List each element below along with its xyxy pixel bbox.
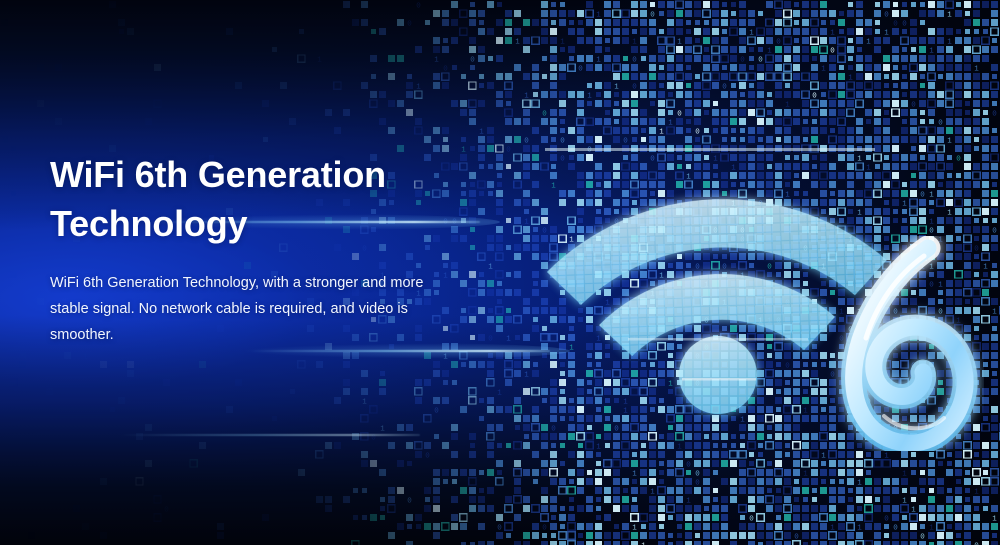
svg-text:0: 0 bbox=[695, 470, 700, 478]
svg-text:0: 0 bbox=[956, 155, 961, 163]
svg-text:0: 0 bbox=[929, 227, 934, 235]
svg-text:1: 1 bbox=[704, 281, 709, 289]
svg-text:1: 1 bbox=[668, 245, 673, 253]
svg-text:1: 1 bbox=[929, 191, 934, 199]
svg-text:1: 1 bbox=[974, 65, 979, 73]
svg-text:0: 0 bbox=[614, 425, 619, 433]
svg-text:1: 1 bbox=[929, 47, 934, 55]
svg-text:0: 0 bbox=[470, 56, 475, 64]
svg-text:0: 0 bbox=[443, 65, 448, 73]
svg-text:1: 1 bbox=[632, 335, 637, 343]
svg-text:1: 1 bbox=[497, 389, 502, 397]
svg-text:1: 1 bbox=[524, 218, 529, 226]
svg-text:1: 1 bbox=[515, 38, 520, 46]
svg-text:0: 0 bbox=[830, 47, 835, 55]
svg-text:1: 1 bbox=[650, 245, 655, 253]
wifi6-promo-banner: 0100100011111110111011101000001111100110… bbox=[0, 0, 1000, 545]
svg-text:1: 1 bbox=[641, 317, 646, 325]
svg-text:0: 0 bbox=[560, 137, 565, 145]
svg-text:0: 0 bbox=[488, 335, 493, 343]
svg-text:1: 1 bbox=[416, 83, 421, 91]
svg-text:1: 1 bbox=[434, 56, 439, 64]
svg-text:0: 0 bbox=[632, 56, 637, 64]
svg-text:1: 1 bbox=[623, 398, 628, 406]
svg-text:1: 1 bbox=[902, 497, 907, 505]
svg-text:1: 1 bbox=[587, 92, 592, 100]
svg-text:0: 0 bbox=[740, 56, 745, 64]
svg-text:0: 0 bbox=[920, 191, 925, 199]
svg-text:0: 0 bbox=[704, 317, 709, 325]
svg-text:1: 1 bbox=[524, 92, 529, 100]
svg-text:0: 0 bbox=[884, 11, 889, 19]
svg-text:1: 1 bbox=[632, 524, 637, 532]
svg-text:1: 1 bbox=[866, 38, 871, 46]
svg-text:1: 1 bbox=[803, 470, 808, 478]
svg-text:1: 1 bbox=[803, 407, 808, 415]
svg-text:1: 1 bbox=[650, 290, 655, 298]
svg-text:0: 0 bbox=[785, 299, 790, 307]
svg-text:1: 1 bbox=[731, 164, 736, 172]
svg-text:0: 0 bbox=[695, 380, 700, 388]
banner-description: WiFi 6th Generation Technology, with a s… bbox=[50, 270, 450, 348]
svg-text:1: 1 bbox=[758, 317, 763, 325]
svg-text:0: 0 bbox=[416, 2, 421, 10]
svg-text:0: 0 bbox=[542, 110, 547, 118]
svg-text:0: 0 bbox=[695, 479, 700, 487]
svg-text:1: 1 bbox=[785, 191, 790, 199]
svg-text:1: 1 bbox=[857, 479, 862, 487]
page-title: WiFi 6th Generation Technology bbox=[50, 150, 450, 248]
svg-text:0: 0 bbox=[695, 128, 700, 136]
svg-text:0: 0 bbox=[497, 524, 502, 532]
svg-text:1: 1 bbox=[929, 524, 934, 532]
svg-text:1: 1 bbox=[884, 29, 889, 37]
svg-text:0: 0 bbox=[713, 227, 718, 235]
svg-text:0: 0 bbox=[551, 425, 556, 433]
svg-text:0: 0 bbox=[722, 83, 727, 91]
svg-text:1: 1 bbox=[947, 209, 952, 217]
svg-text:1: 1 bbox=[713, 155, 718, 163]
svg-text:1: 1 bbox=[902, 470, 907, 478]
svg-text:1: 1 bbox=[380, 425, 385, 433]
svg-text:1: 1 bbox=[569, 236, 574, 244]
svg-text:1: 1 bbox=[362, 398, 367, 406]
svg-text:1: 1 bbox=[632, 470, 637, 478]
svg-text:0: 0 bbox=[749, 515, 754, 523]
svg-text:0: 0 bbox=[371, 434, 376, 442]
svg-text:1: 1 bbox=[767, 47, 772, 55]
svg-text:0: 0 bbox=[632, 83, 637, 91]
svg-text:1: 1 bbox=[659, 128, 664, 136]
svg-text:1: 1 bbox=[569, 344, 574, 352]
svg-text:0: 0 bbox=[650, 155, 655, 163]
svg-text:1: 1 bbox=[857, 155, 862, 163]
svg-text:1: 1 bbox=[884, 452, 889, 460]
svg-text:0: 0 bbox=[812, 92, 817, 100]
svg-text:1: 1 bbox=[857, 524, 862, 532]
svg-text:1: 1 bbox=[83, 353, 88, 361]
svg-text:0: 0 bbox=[785, 362, 790, 370]
svg-text:0: 0 bbox=[938, 119, 943, 127]
svg-text:1: 1 bbox=[821, 65, 826, 73]
svg-text:0: 0 bbox=[2, 533, 7, 541]
svg-text:1: 1 bbox=[740, 272, 745, 280]
svg-text:0: 0 bbox=[542, 227, 547, 235]
svg-text:0: 0 bbox=[686, 461, 691, 469]
svg-text:0: 0 bbox=[911, 101, 916, 109]
svg-text:0: 0 bbox=[623, 137, 628, 145]
svg-text:1: 1 bbox=[560, 38, 565, 46]
svg-text:1: 1 bbox=[605, 299, 610, 307]
svg-text:1: 1 bbox=[461, 146, 466, 154]
svg-text:0: 0 bbox=[992, 110, 997, 118]
svg-text:0: 0 bbox=[407, 497, 412, 505]
svg-text:0: 0 bbox=[758, 200, 763, 208]
svg-text:1: 1 bbox=[821, 452, 826, 460]
svg-text:0: 0 bbox=[425, 452, 430, 460]
svg-text:0: 0 bbox=[767, 263, 772, 271]
svg-text:0: 0 bbox=[614, 218, 619, 226]
svg-text:0: 0 bbox=[407, 20, 412, 28]
svg-text:1: 1 bbox=[857, 209, 862, 217]
svg-text:0: 0 bbox=[677, 110, 682, 118]
svg-text:0: 0 bbox=[803, 218, 808, 226]
svg-text:1: 1 bbox=[596, 11, 601, 19]
svg-text:0: 0 bbox=[587, 146, 592, 154]
svg-text:0: 0 bbox=[524, 137, 529, 145]
svg-text:1: 1 bbox=[947, 137, 952, 145]
banner-copy-block: WiFi 6th Generation Technology WiFi 6th … bbox=[50, 150, 450, 348]
svg-text:0: 0 bbox=[695, 353, 700, 361]
svg-text:0: 0 bbox=[902, 20, 907, 28]
svg-text:0: 0 bbox=[794, 533, 799, 541]
svg-text:0: 0 bbox=[578, 299, 583, 307]
svg-text:0: 0 bbox=[578, 65, 583, 73]
svg-text:1: 1 bbox=[479, 128, 484, 136]
svg-text:1: 1 bbox=[866, 164, 871, 172]
svg-text:1: 1 bbox=[677, 38, 682, 46]
svg-text:1: 1 bbox=[686, 173, 691, 181]
svg-text:1: 1 bbox=[596, 443, 601, 451]
svg-text:0: 0 bbox=[920, 533, 925, 541]
svg-text:1: 1 bbox=[488, 263, 493, 271]
svg-text:0: 0 bbox=[740, 236, 745, 244]
svg-text:1: 1 bbox=[848, 74, 853, 82]
svg-text:1: 1 bbox=[947, 11, 952, 19]
svg-text:0: 0 bbox=[542, 524, 547, 532]
svg-text:0: 0 bbox=[434, 407, 439, 415]
svg-text:0: 0 bbox=[803, 245, 808, 253]
svg-text:1: 1 bbox=[668, 119, 673, 127]
svg-text:0: 0 bbox=[884, 515, 889, 523]
svg-text:0: 0 bbox=[758, 56, 763, 64]
svg-text:1: 1 bbox=[992, 308, 997, 316]
svg-text:0: 0 bbox=[740, 227, 745, 235]
light-streak bbox=[250, 350, 550, 352]
svg-text:1: 1 bbox=[740, 416, 745, 424]
svg-text:0: 0 bbox=[722, 263, 727, 271]
svg-text:1: 1 bbox=[911, 506, 916, 514]
svg-text:1: 1 bbox=[524, 371, 529, 379]
svg-text:0: 0 bbox=[704, 344, 709, 352]
svg-text:1: 1 bbox=[992, 515, 997, 523]
svg-text:1: 1 bbox=[731, 200, 736, 208]
svg-text:0: 0 bbox=[560, 155, 565, 163]
svg-text:1: 1 bbox=[830, 29, 835, 37]
svg-text:0: 0 bbox=[650, 11, 655, 19]
svg-text:1: 1 bbox=[596, 335, 601, 343]
svg-text:1: 1 bbox=[947, 38, 952, 46]
svg-text:1: 1 bbox=[596, 56, 601, 64]
svg-text:1: 1 bbox=[722, 299, 727, 307]
svg-text:1: 1 bbox=[614, 83, 619, 91]
svg-text:1: 1 bbox=[749, 29, 754, 37]
numeral-six-icon bbox=[824, 236, 984, 451]
svg-text:1: 1 bbox=[506, 335, 511, 343]
svg-text:1: 1 bbox=[677, 443, 682, 451]
svg-text:1: 1 bbox=[974, 488, 979, 496]
svg-text:0: 0 bbox=[695, 263, 700, 271]
svg-text:0: 0 bbox=[506, 146, 511, 154]
svg-text:1: 1 bbox=[902, 200, 907, 208]
svg-text:1: 1 bbox=[785, 101, 790, 109]
svg-text:0: 0 bbox=[992, 227, 997, 235]
svg-text:1: 1 bbox=[668, 380, 673, 388]
light-streak bbox=[120, 434, 420, 436]
svg-text:0: 0 bbox=[776, 317, 781, 325]
svg-text:1: 1 bbox=[767, 317, 772, 325]
svg-text:0: 0 bbox=[893, 524, 898, 532]
svg-text:1: 1 bbox=[830, 524, 835, 532]
svg-text:0: 0 bbox=[893, 20, 898, 28]
svg-text:1: 1 bbox=[551, 182, 556, 190]
svg-text:1: 1 bbox=[686, 497, 691, 505]
svg-text:1: 1 bbox=[659, 272, 664, 280]
svg-text:0: 0 bbox=[164, 506, 169, 514]
svg-text:1: 1 bbox=[317, 56, 322, 64]
svg-text:1: 1 bbox=[650, 488, 655, 496]
svg-text:1: 1 bbox=[632, 38, 637, 46]
svg-text:1: 1 bbox=[623, 407, 628, 415]
svg-text:0: 0 bbox=[776, 38, 781, 46]
svg-text:1: 1 bbox=[929, 218, 934, 226]
